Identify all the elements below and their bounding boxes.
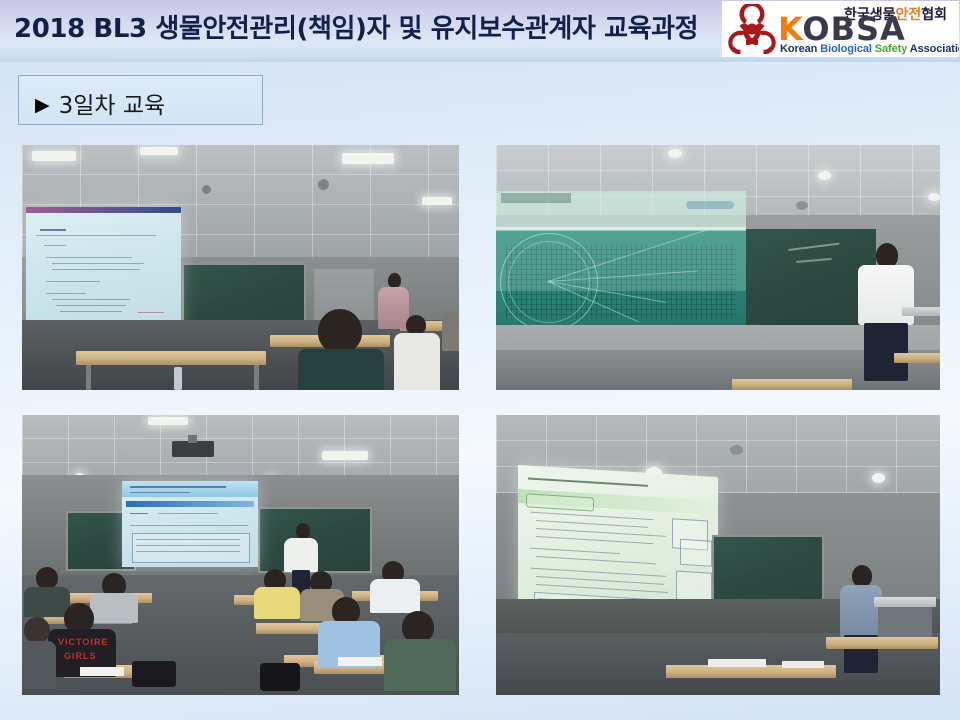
section-heading-box: ▶3일차 교육 xyxy=(18,75,263,125)
biohazard-icon xyxy=(726,4,778,54)
logo-tagline: Korean Biological Safety Association xyxy=(780,43,959,55)
backpack xyxy=(132,661,176,687)
desk-leg xyxy=(254,365,259,390)
slide-text-line xyxy=(536,536,654,544)
attendee-head xyxy=(24,617,50,643)
slide-text-line xyxy=(52,263,144,264)
desk-leg xyxy=(86,365,91,390)
slide-text-line xyxy=(44,245,66,246)
photo-bottom-right xyxy=(496,415,940,695)
handout-paper xyxy=(708,659,766,667)
slide-title-band xyxy=(122,481,258,497)
scene-chalkboard-chart-presenter xyxy=(496,145,940,390)
slide-header-bar xyxy=(26,207,181,213)
presenter-shirt xyxy=(858,265,914,325)
slide-text-line xyxy=(130,492,190,493)
ceiling-light xyxy=(422,197,452,205)
slide-text-line xyxy=(40,229,66,231)
slide-divider xyxy=(36,235,156,236)
scene-classroom-audience-wide: VICTOIRE GIRLS xyxy=(22,415,459,695)
attendee-head xyxy=(406,315,426,335)
slide-table xyxy=(132,533,250,563)
ceiling-light xyxy=(928,193,940,201)
slide-text-line xyxy=(52,299,130,300)
slide-watermark xyxy=(686,201,734,209)
attendee-body xyxy=(254,587,300,619)
ceiling-light xyxy=(322,451,368,460)
section-heading: ▶3일차 교육 xyxy=(35,86,165,120)
slide-text-line xyxy=(130,513,148,514)
triangle-right-icon: ▶ xyxy=(35,94,50,116)
slide-thumbnail xyxy=(680,539,712,567)
podium-top xyxy=(902,307,940,316)
photo-top-right xyxy=(496,145,940,390)
instructor-body xyxy=(378,287,409,329)
scene-presentation-podium xyxy=(496,415,940,695)
slide-text-line xyxy=(536,584,668,593)
ceiling-vent xyxy=(730,445,743,455)
attendee-body xyxy=(370,579,420,613)
attendee-head xyxy=(318,309,362,353)
attendee-body xyxy=(442,311,459,351)
slide-text-line xyxy=(46,281,100,282)
slide-text-line xyxy=(158,513,218,514)
ceiling-light xyxy=(818,171,831,180)
ceiling-vent xyxy=(202,185,211,194)
presenter-body xyxy=(840,585,882,637)
attendee-body xyxy=(394,333,440,390)
section-heading-label: 3일차 교육 xyxy=(59,93,166,119)
podium-top xyxy=(874,597,936,607)
projection-screen xyxy=(122,481,258,567)
slide-logo-mark xyxy=(138,312,164,313)
scene-lecture-room-projection xyxy=(22,145,459,390)
slide-text-line xyxy=(56,305,126,306)
chalkboard-right xyxy=(746,229,876,329)
attendee-body xyxy=(298,349,384,390)
attendee-body xyxy=(24,587,70,617)
slide-text-line xyxy=(130,486,226,488)
attendee-body xyxy=(90,593,138,623)
slide-text-line xyxy=(52,269,140,270)
projection-screen xyxy=(26,207,181,325)
ceiling-light xyxy=(140,147,178,155)
ceiling-vent xyxy=(796,201,808,210)
slide-text-line xyxy=(530,548,620,555)
slide-text-line xyxy=(60,311,122,312)
backpack xyxy=(260,663,300,691)
handout-paper xyxy=(80,667,124,676)
instructor-head xyxy=(388,273,401,288)
slide-table-row xyxy=(136,551,240,552)
ceiling-light xyxy=(668,149,682,158)
slide-text-line xyxy=(536,576,664,585)
desk xyxy=(732,379,852,390)
slide-text-line xyxy=(536,520,648,528)
attendee-body xyxy=(22,641,56,689)
slide-canvas: 2018 BL3 생물안전관리(책임)자 및 유지보수관계자 교육과정 한국생물… xyxy=(0,0,960,720)
kobsa-logo: 한국생물안전협회 KOBSA Korean Biological Safety … xyxy=(722,1,959,57)
slide-text-line xyxy=(530,512,654,521)
slide-text-line xyxy=(46,293,86,294)
presenter-head xyxy=(852,565,872,587)
projector-mount xyxy=(188,435,197,443)
page-title: 2018 BL3 생물안전관리(책임)자 및 유지보수관계자 교육과정 xyxy=(14,12,714,46)
slide-table-row xyxy=(136,545,240,546)
logo-wordmark: KOBSA xyxy=(778,14,906,44)
attendee-body xyxy=(384,639,456,691)
slide-text-line xyxy=(530,568,666,577)
slide-logo-mark xyxy=(501,193,571,203)
slide-text-line xyxy=(536,556,656,564)
photo-top-left xyxy=(22,145,459,390)
slide-table-row xyxy=(136,539,240,540)
water-bottle xyxy=(174,367,182,390)
slide-text-line xyxy=(536,528,666,537)
slide-title-line xyxy=(528,477,648,486)
projector xyxy=(172,441,214,457)
handout-paper xyxy=(782,661,824,668)
slide-accent-bar xyxy=(126,501,254,507)
presenter-pants xyxy=(864,323,908,381)
ceiling-light xyxy=(32,151,76,161)
instructor-body xyxy=(284,538,318,572)
desk xyxy=(894,353,940,363)
slide-text-line xyxy=(130,525,248,526)
ceiling-vent xyxy=(318,179,329,190)
ceiling-light xyxy=(342,153,394,164)
shirt-text: GIRLS xyxy=(64,651,104,661)
desk xyxy=(76,351,266,365)
attendee-head xyxy=(36,567,58,589)
ceiling-light xyxy=(148,417,188,425)
ceiling-light xyxy=(872,473,885,483)
slide-text-line xyxy=(46,257,132,258)
slide-section-badge xyxy=(526,493,594,511)
board-rail xyxy=(496,227,746,230)
desk xyxy=(826,637,938,649)
handout-paper xyxy=(338,657,382,666)
instructor-head xyxy=(296,523,310,539)
photo-bottom-left: VICTOIRE GIRLS xyxy=(22,415,459,695)
shirt-text: VICTOIRE xyxy=(58,637,108,647)
